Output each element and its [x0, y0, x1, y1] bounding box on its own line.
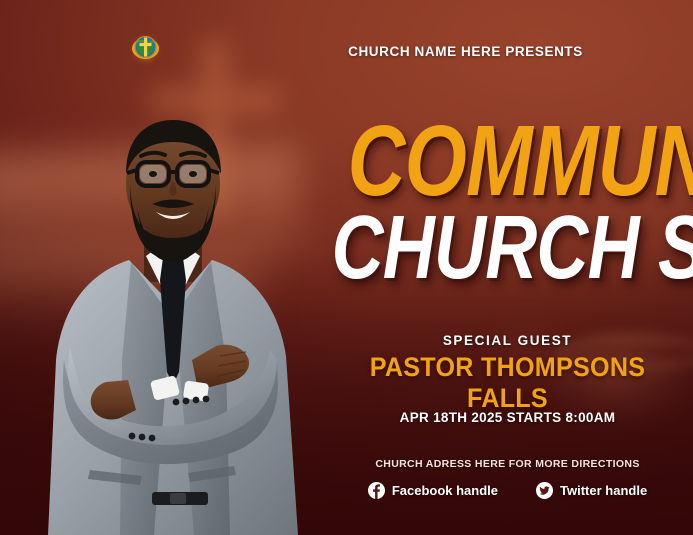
- title-line-communion: COMMUNION: [322, 118, 619, 204]
- event-datetime: APR 18TH 2025 STARTS 8:00AM: [322, 410, 693, 425]
- twitter-icon: [536, 482, 553, 499]
- pastor-figure: [34, 110, 312, 535]
- flyer-canvas: CHURCH NAME HERE PRESENTS COMMUNION CHUR…: [0, 0, 693, 535]
- social-link-twitter[interactable]: Twitter handle: [536, 482, 647, 499]
- special-guest-label: SPECIAL GUEST: [322, 333, 693, 348]
- pastor-photo: [34, 110, 312, 535]
- main-title: COMMUNION CHURCH SERVICE: [322, 118, 693, 313]
- social-link-facebook[interactable]: Facebook handle: [368, 482, 498, 499]
- event-address: CHURCH ADRESS HERE FOR MORE DIRECTIONS: [322, 458, 693, 470]
- presents-line: CHURCH NAME HERE PRESENTS: [0, 44, 693, 59]
- special-guest-name: PASTOR THOMPSONS FALLS: [335, 352, 680, 414]
- social-links: Facebook handle Twitter handle: [322, 482, 693, 499]
- social-label-twitter: Twitter handle: [560, 483, 647, 498]
- facebook-icon: [368, 482, 385, 499]
- social-label-facebook: Facebook handle: [392, 483, 498, 498]
- title-line-church-service: CHURCH SERVICE: [322, 210, 619, 287]
